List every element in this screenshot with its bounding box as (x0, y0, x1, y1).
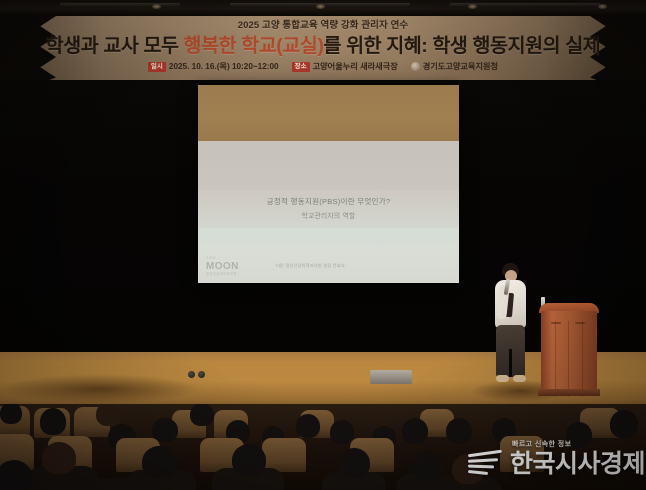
slide-band-mid (198, 141, 459, 190)
audience-head (330, 420, 354, 444)
audience-head (296, 414, 320, 438)
audience-head (402, 418, 428, 444)
presenter-shoe-left (496, 375, 509, 382)
podium-body (541, 311, 597, 391)
banner-title-highlight: 행복한 학교(교실) (184, 35, 324, 57)
podium-base (538, 389, 600, 396)
audience-head (40, 408, 66, 435)
slide-logo-moon: MOON (206, 261, 239, 272)
meta-chip-venue: 장소 (292, 62, 310, 72)
audience-head (152, 418, 178, 442)
banner-kicker: 2025 고양 통합교육 역량 강화 관리자 연수 (238, 20, 409, 32)
event-banner: 2025 고양 통합교육 역량 강화 관리자 연수 학생과 교사 모두 행복한 … (0, 16, 646, 80)
conference-photo: 2025 고양 통합교육 역량 강화 관리자 연수 학생과 교사 모두 행복한 … (0, 0, 646, 490)
organizer-logo-icon (411, 62, 420, 71)
slide-logo: THE MOON 정신건강의학과의원 (206, 256, 239, 277)
slide-subtitle: 학교관리자의 역할 (198, 212, 459, 221)
banner-title: 학생과 교사 모두 행복한 학교(교실)를 위한 지혜: 학생 행동지원의 실제 (46, 33, 601, 59)
control-desk-secondary (370, 370, 412, 384)
audience-head (96, 404, 122, 426)
audience-head (42, 442, 76, 474)
audience-head (610, 410, 638, 438)
meta-text-venue: 고양어울누리 새라새극장 (313, 61, 398, 72)
presenter-shoe-right (513, 375, 526, 382)
ceiling (0, 0, 646, 16)
watermark-brand: 한국시사경제 (510, 450, 645, 478)
meta-text-organizer: 경기도고양교육지원청 (423, 61, 498, 72)
audience-head (412, 450, 444, 480)
podium (538, 303, 600, 398)
audience-head (0, 404, 22, 424)
watermark-tagline: 빠르고 신속한 정보 (512, 439, 571, 449)
banner-meta-organizer: 경기도고양교육지원청 (411, 61, 498, 72)
projection-screen: 긍정적 행동지원(PBS)이란 무엇인가? 학교관리자의 역할 THE MOON… (198, 85, 459, 283)
banner-title-part2: 를 위한 지혜: 학생 행동지원의 실제 (324, 35, 601, 57)
banner-title-part1: 학생과 교사 모두 (46, 35, 184, 57)
ceiling-light-icon (468, 4, 477, 9)
slide-band-top (198, 85, 459, 141)
slide-logo-subtitle: 정신건강의학과의원 (206, 272, 239, 277)
slide-band-low (198, 190, 459, 228)
ceiling-light-icon (316, 4, 325, 9)
audience-head (232, 444, 266, 476)
ceiling-light-icon (152, 4, 161, 9)
banner-meta-datetime: 일시 2025. 10. 16.(목) 10:20~12:00 (148, 61, 279, 72)
audience-head (338, 448, 370, 478)
control-desk (172, 366, 220, 384)
audience-shoulders (60, 478, 150, 490)
wave-logo-icon (466, 446, 506, 476)
banner-meta-venue: 장소 고양어울누리 새라새극장 (292, 61, 398, 72)
ceiling-light-icon (598, 4, 607, 9)
meta-text-datetime: 2025. 10. 16.(목) 10:20~12:00 (169, 61, 279, 72)
meta-chip-datetime: 일시 (148, 62, 166, 72)
watermark-logo: 빠르고 신속한 정보 한국시사경제 (466, 437, 642, 485)
audience-head (190, 404, 214, 426)
slide-title: 긍정적 행동지원(PBS)이란 무엇인가? (198, 197, 459, 207)
slide-credit: 더문 정신건강의학과의원 원장 문효숙 (276, 263, 345, 269)
banner-meta: 일시 2025. 10. 16.(목) 10:20~12:00 장소 고양어울누… (148, 61, 498, 72)
audience-head (0, 460, 32, 490)
presenter (489, 263, 535, 391)
presenter-leg-gap (509, 349, 512, 377)
audience-head (142, 446, 176, 478)
